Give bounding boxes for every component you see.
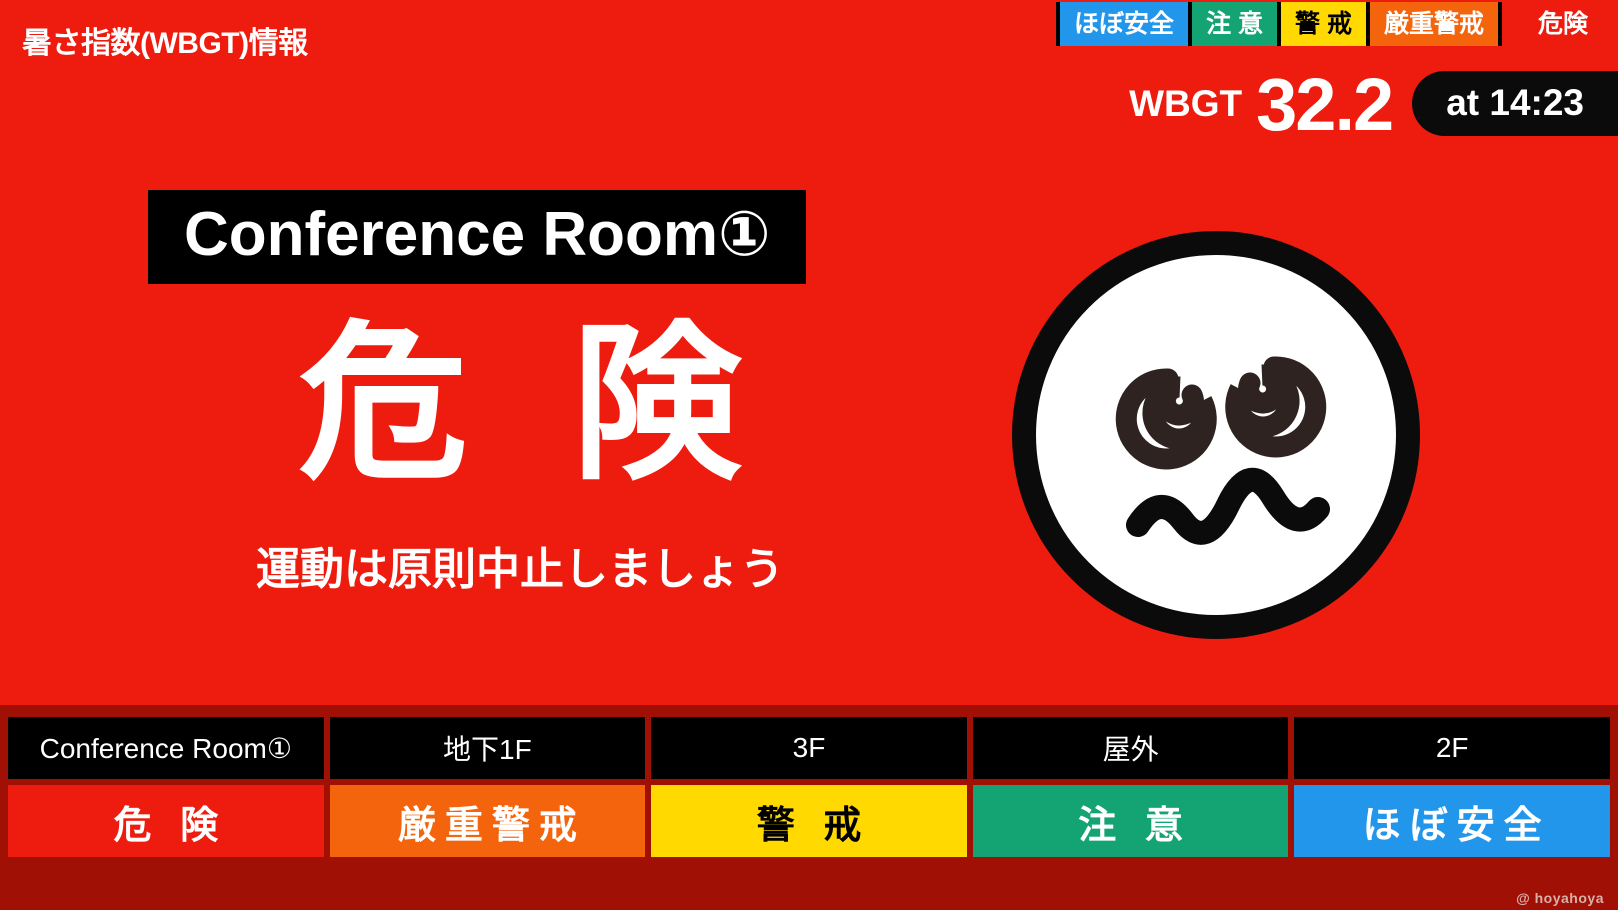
room-status-cell: 危 険 — [8, 785, 324, 857]
current-room-banner: Conference Room① — [148, 190, 806, 284]
wbgt-level-legend: ほぼ安全注 意警 戒厳重警戒危険 — [1056, 2, 1618, 46]
header-bar: 暑さ指数(WBGT)情報 ほぼ安全注 意警 戒厳重警戒危険 — [0, 0, 1618, 56]
legend-item-3: 厳重警戒 — [1366, 2, 1502, 46]
wbgt-signage-screen: 暑さ指数(WBGT)情報 ほぼ安全注 意警 戒厳重警戒危険 WBGT 32.2 … — [0, 0, 1618, 910]
page-title: 暑さ指数(WBGT)情報 — [22, 18, 308, 62]
legend-item-2: 警 戒 — [1277, 2, 1370, 46]
room-column-1[interactable]: 地下1F厳重警戒 — [330, 717, 646, 857]
room-status-columns: Conference Room①危 険地下1F厳重警戒3F警 戒屋外注 意2Fほ… — [8, 717, 1610, 857]
room-name-cell: 地下1F — [330, 717, 646, 779]
room-status-cell: 警 戒 — [651, 785, 967, 857]
wbgt-metric-label: WBGT — [1129, 85, 1242, 122]
level-advice-text: 運動は原則中止しましょう — [150, 548, 890, 592]
legend-item-4: 危険 — [1498, 2, 1618, 46]
legend-item-1: 注 意 — [1188, 2, 1281, 46]
room-column-0[interactable]: Conference Room①危 険 — [8, 717, 324, 857]
room-status-cell: ほぼ安全 — [1294, 785, 1610, 857]
watermark: @ hoyahoya — [1516, 890, 1604, 906]
room-name-cell: 3F — [651, 717, 967, 779]
current-level-text: 危 険 — [150, 320, 890, 490]
room-column-4[interactable]: 2Fほぼ安全 — [1294, 717, 1610, 857]
room-status-cell: 注 意 — [973, 785, 1289, 857]
legend-item-0: ほぼ安全 — [1056, 2, 1192, 46]
room-status-table: Conference Room①危 険地下1F厳重警戒3F警 戒屋外注 意2Fほ… — [0, 705, 1618, 910]
wbgt-reading: WBGT 32.2 at 14:23 — [1129, 68, 1618, 138]
room-status-cell: 厳重警戒 — [330, 785, 646, 857]
room-name-cell: Conference Room① — [8, 717, 324, 779]
room-name-cell: 屋外 — [973, 717, 1289, 779]
room-name-cell: 2F — [1294, 717, 1610, 779]
wbgt-timestamp-badge: at 14:23 — [1412, 71, 1618, 136]
main-panel: Conference Room① 危 険 運動は原則中止しましょう — [0, 150, 1618, 705]
room-column-3[interactable]: 屋外注 意 — [973, 717, 1289, 857]
wbgt-value: 32.2 — [1256, 68, 1392, 142]
room-column-2[interactable]: 3F警 戒 — [651, 717, 967, 857]
dizzy-face-icon — [1008, 227, 1424, 643]
